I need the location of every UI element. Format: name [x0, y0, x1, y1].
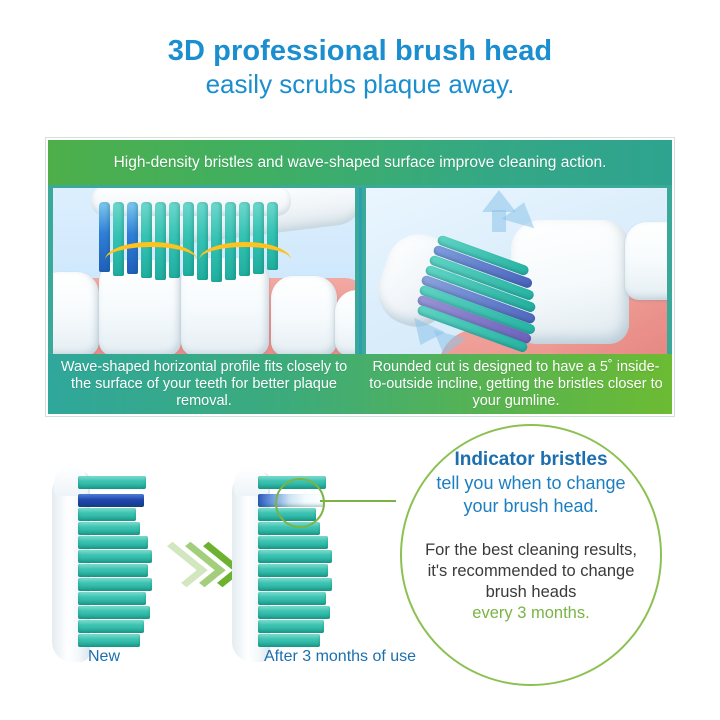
feature-panel: High-density bristles and wave-shaped su…	[46, 138, 674, 416]
bristle-bar	[78, 620, 144, 633]
bristle-bar	[258, 564, 328, 577]
angled-brush-head-photo	[366, 188, 668, 358]
bristle-bar	[78, 578, 152, 591]
bristle-bar	[78, 564, 148, 577]
bristle-bar	[78, 634, 140, 647]
panel-header-text: High-density bristles and wave-shaped su…	[104, 154, 617, 172]
panel-caption-band: Wave-shaped horizontal profile fits clos…	[48, 354, 672, 414]
molar	[53, 272, 99, 356]
caption-left: Wave-shaped horizontal profile fits clos…	[48, 354, 360, 414]
bristle-tuft	[253, 202, 264, 274]
bristle-tuft	[183, 202, 194, 276]
new-label: New	[88, 648, 120, 666]
photo-divider	[359, 188, 362, 358]
progress-arrows	[166, 536, 236, 588]
panel-header-band: High-density bristles and wave-shaped su…	[48, 140, 672, 185]
bristle-bar	[258, 592, 326, 605]
bristle-bar	[78, 550, 152, 563]
photo-row	[53, 188, 667, 358]
bristle-tuft	[239, 202, 250, 276]
info-body: For the best cleaning results, it's reco…	[420, 540, 642, 603]
teeth-wave-bristles-photo	[53, 188, 355, 358]
comparison-section: New After 3 months of use Indicator bris…	[0, 430, 720, 720]
bristle-tuft	[127, 202, 138, 274]
bristle-bar	[78, 522, 140, 535]
title-line-1: 3D professional brush head	[0, 34, 720, 68]
bristle-tuft	[155, 202, 166, 280]
molar	[335, 290, 355, 356]
info-highlight: every 3 months.	[472, 603, 589, 624]
bristle-tuft	[113, 202, 124, 276]
bristle-bar	[258, 550, 332, 563]
indicator-highlight-circle	[275, 478, 325, 528]
title-line-2: easily scrubs plaque away.	[0, 68, 720, 101]
bristle-tuft	[225, 202, 236, 280]
bristle-tuft	[141, 202, 152, 278]
bristle-bar	[258, 634, 320, 647]
bristle-bar	[78, 476, 146, 489]
caption-right: Rounded cut is designed to have a 5˚ ins…	[360, 354, 672, 414]
bristle-tuft	[197, 202, 208, 280]
info-heading: Indicator bristles	[454, 448, 607, 471]
page-title: 3D professional brush head easily scrubs…	[0, 34, 720, 101]
bristle-tuft	[169, 202, 180, 278]
leader-line	[320, 500, 396, 502]
bristle-bar	[78, 536, 148, 549]
used-label: After 3 months of use	[264, 648, 416, 666]
bristle-tuft	[211, 202, 222, 282]
bristle-bar	[78, 508, 136, 521]
bristle-bar	[78, 592, 146, 605]
indicator-bristle-stripe	[78, 494, 144, 507]
bristle-bar	[78, 606, 150, 619]
caption-left-text: Wave-shaped horizontal profile fits clos…	[54, 359, 354, 410]
bristle-bar	[258, 606, 330, 619]
caption-right-text: Rounded cut is designed to have a 5˚ ins…	[366, 359, 666, 410]
bristle-bar	[258, 620, 324, 633]
molar	[625, 222, 667, 300]
bristle-bar	[258, 536, 328, 549]
info-circle: Indicator bristles tell you when to chan…	[400, 424, 662, 686]
info-subheading: tell you when to change your brush head.	[420, 472, 642, 518]
bristle-bar	[258, 578, 332, 591]
molar	[271, 276, 337, 356]
